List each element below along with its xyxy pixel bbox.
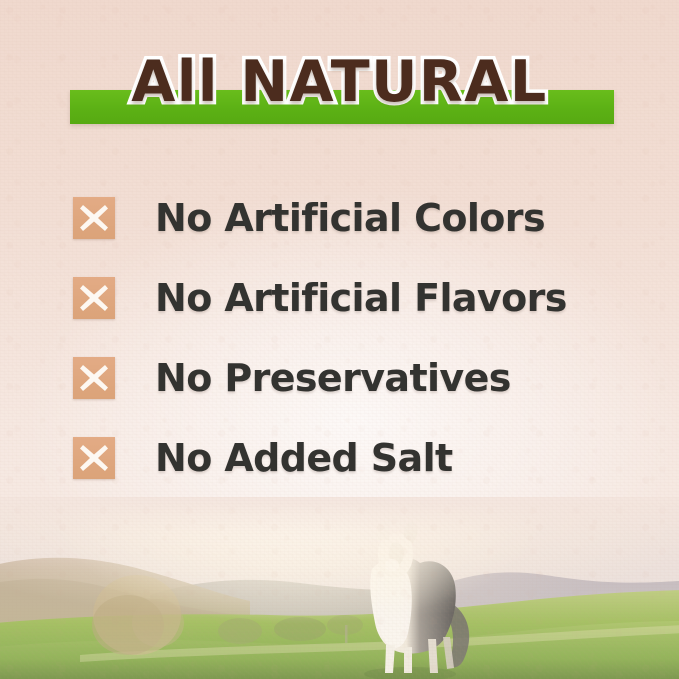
- x-mark-icon: [73, 277, 115, 319]
- x-mark-glyph: [73, 197, 115, 239]
- x-mark-icon: [73, 437, 115, 479]
- list-item: No Artificial Colors: [73, 178, 633, 258]
- hillside-dog-photo: [0, 497, 679, 679]
- claim-label: No Artificial Flavors: [155, 277, 567, 319]
- x-mark-icon: [73, 197, 115, 239]
- all-natural-poster: All NATURAL No Artificial Colors No Arti…: [0, 0, 679, 679]
- page-title: All NATURAL: [0, 46, 679, 118]
- list-item: No Artificial Flavors: [73, 258, 633, 338]
- list-item: No Added Salt: [73, 418, 633, 498]
- x-mark-glyph: [73, 437, 115, 479]
- x-mark-icon: [73, 357, 115, 399]
- headline-block: All NATURAL: [0, 46, 679, 130]
- claim-label: No Preservatives: [155, 357, 511, 399]
- claims-list: No Artificial Colors No Artificial Flavo…: [73, 178, 633, 498]
- claim-label: No Artificial Colors: [155, 197, 545, 239]
- x-mark-glyph: [73, 357, 115, 399]
- claim-label: No Added Salt: [155, 437, 453, 479]
- x-mark-glyph: [73, 277, 115, 319]
- list-item: No Preservatives: [73, 338, 633, 418]
- photo-illustration: [0, 497, 679, 679]
